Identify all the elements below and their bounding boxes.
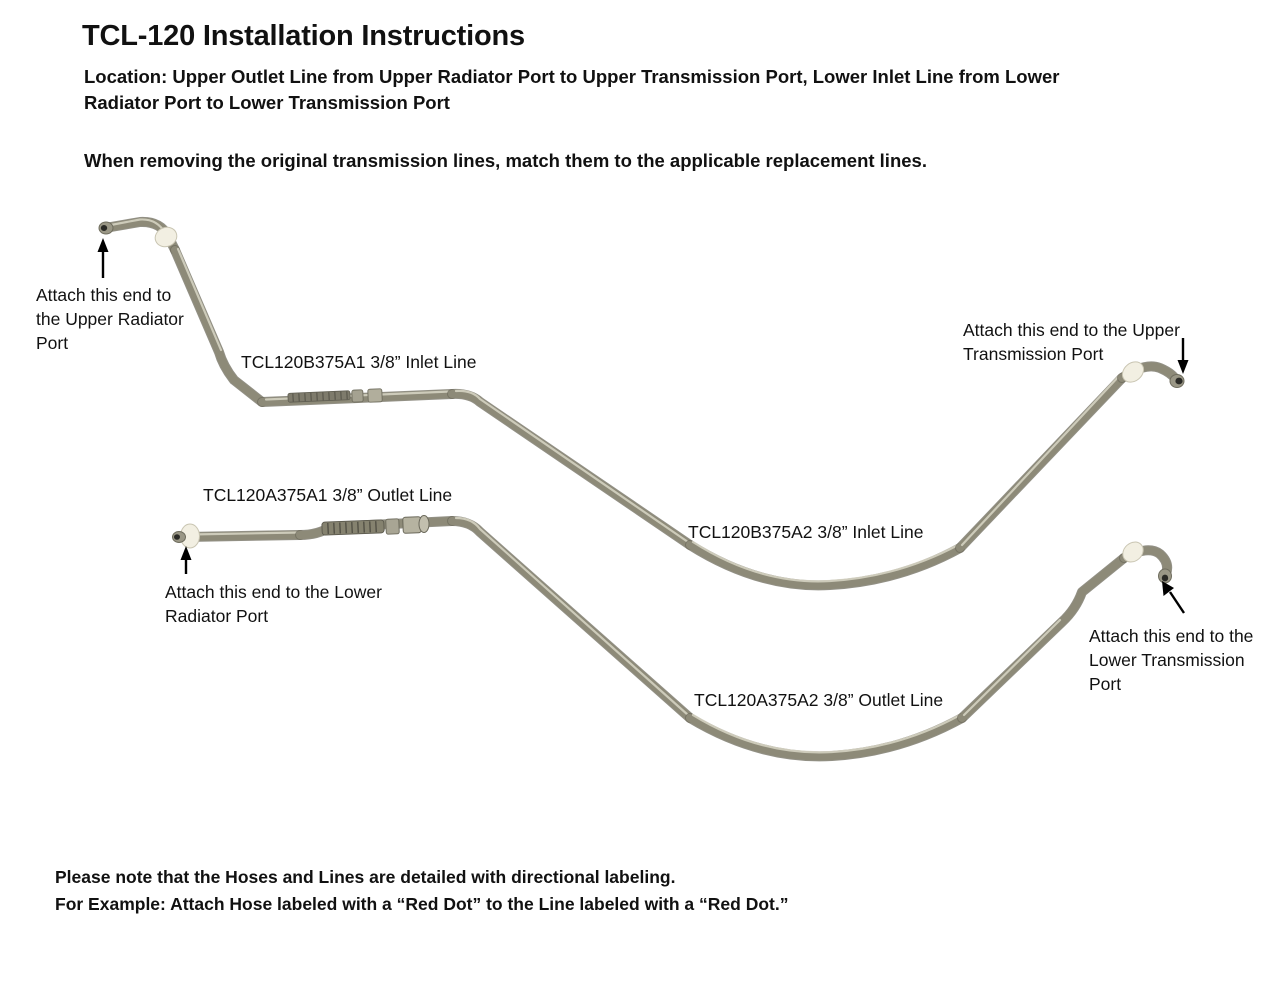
callout-arrow-lower-transmission [1162,581,1184,613]
part-label-upper-right: TCL120B375A2 3/8” Inlet Line [688,522,923,543]
callout-upper-radiator: Attach this end to the Upper Radiator Po… [36,283,196,355]
installation-instructions-page: TCL-120 Installation Instructions Locati… [0,0,1280,989]
lower-right-end-fitting [1159,569,1172,583]
callout-arrow-lower-radiator [181,546,192,574]
lower-line-left-collar [181,524,200,548]
callout-lower-transmission: Attach this end to the Lower Transmissio… [1089,624,1264,696]
location-description: Location: Upper Outlet Line from Upper R… [84,64,1094,117]
callout-arrow-upper-radiator [98,238,109,278]
lower-transmission-line [173,516,1172,757]
part-label-lower-right: TCL120A375A2 3/8” Outlet Line [694,690,943,711]
footer-line-1: Please note that the Hoses and Lines are… [55,864,955,891]
lower-line-right-collar [1119,538,1147,566]
upper-line-left-tip [99,222,113,234]
part-label-upper-left: TCL120B375A1 3/8” Inlet Line [241,352,476,373]
part-label-lower-left: TCL120A375A1 3/8” Outlet Line [203,485,452,506]
upper-line-left-collar [152,224,180,250]
upper-right-end-fitting [1170,375,1184,388]
callout-upper-transmission: Attach this end to the Upper Transmissio… [963,318,1193,366]
footer-line-2: For Example: Attach Hose labeled with a … [55,891,955,918]
footer-note: Please note that the Hoses and Lines are… [55,864,955,918]
lower-line-coupling [322,516,429,536]
upper-line-coupling [288,389,382,403]
lower-line-left-tip [173,532,186,543]
upper-transmission-line [99,219,1184,585]
page-title: TCL-120 Installation Instructions [82,20,525,53]
callout-lower-radiator: Attach this end to the Lower Radiator Po… [165,580,385,628]
matching-instruction: When removing the original transmission … [84,148,1204,174]
